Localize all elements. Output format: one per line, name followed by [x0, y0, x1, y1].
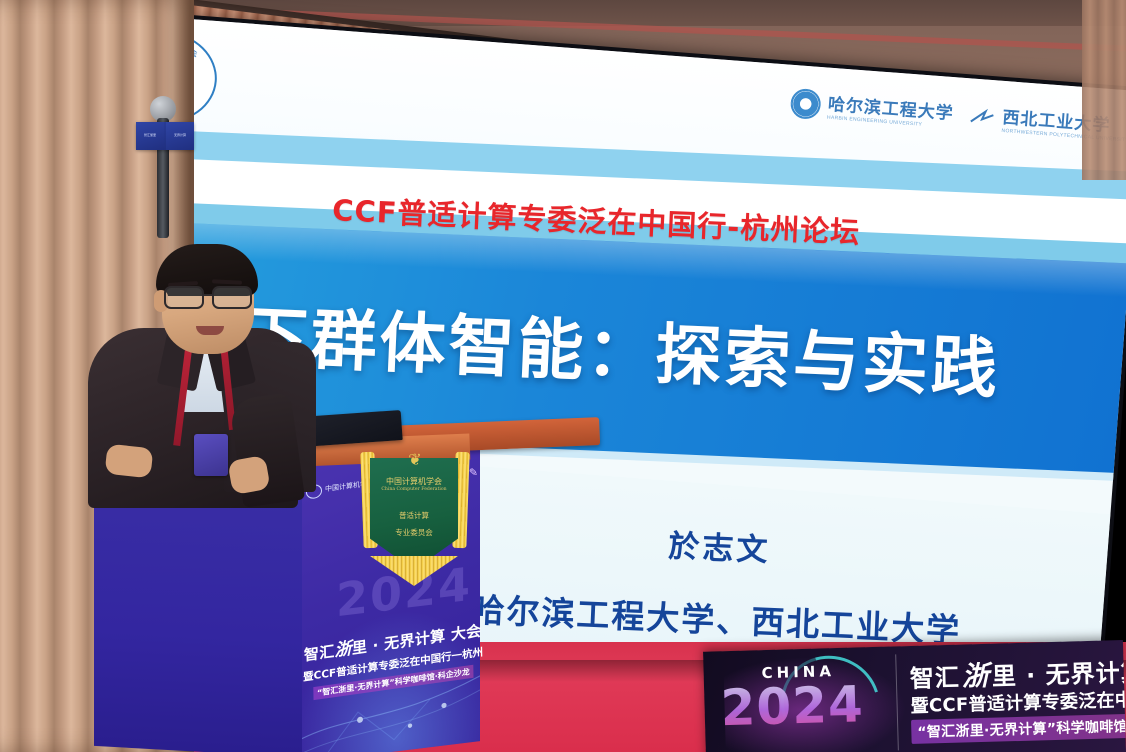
pennant-line4: 专业委员会 — [370, 527, 458, 538]
podium-brand-part-a: 智汇 — [304, 642, 335, 664]
glasses-lens-right — [212, 286, 252, 309]
backdrop-title-part-a: 智汇 — [909, 664, 960, 693]
pennant-line3: 普适计算 — [370, 510, 458, 521]
heu-badge-icon — [790, 87, 822, 119]
pennant-fringe — [370, 556, 458, 586]
podium-brand-zhe: 浙 — [334, 639, 352, 661]
mic-flag-pane-left: 智汇浙里 — [136, 122, 164, 150]
pennant-line2: China Computer Federation — [370, 487, 458, 492]
npu-mark-icon — [969, 107, 996, 127]
mic-flag-text-left: 智汇浙里 — [144, 134, 156, 138]
ccf-pennant: ❦ 中国计算机学会 China Computer Federation 普适计算… — [358, 452, 470, 602]
conference-photo: 中国计算机学会 CCF 哈尔滨工程大学 — [0, 0, 1126, 752]
backdrop-year: 2024 — [720, 675, 865, 737]
podium-secondary-logo-icon: ✎ — [469, 465, 478, 479]
mic-flag-text-right: 无界计算 — [174, 134, 186, 138]
pennant-line1: 中国计算机学会 — [370, 476, 458, 487]
microphone: 智汇浙里 无界计算 — [140, 96, 186, 246]
microphone-flag: 智汇浙里 无界计算 — [136, 122, 194, 150]
speaker-hand-left — [105, 444, 154, 479]
speaker-glasses-icon — [162, 286, 258, 310]
conference-backdrop: CHINA 2024 智汇浙里 · 无界计算 大会 暨CCF普适计算专委泛在中国… — [703, 640, 1126, 752]
glasses-lens-left — [164, 286, 204, 309]
backdrop-title-zhe: 浙 — [959, 661, 992, 693]
speaker-person — [84, 246, 334, 506]
speaker-badge — [194, 434, 228, 476]
curtain-right — [1082, 0, 1126, 180]
mic-flag-pane-right: 无界计算 — [166, 122, 194, 150]
pennant-crest-icon: ❦ — [402, 450, 428, 472]
